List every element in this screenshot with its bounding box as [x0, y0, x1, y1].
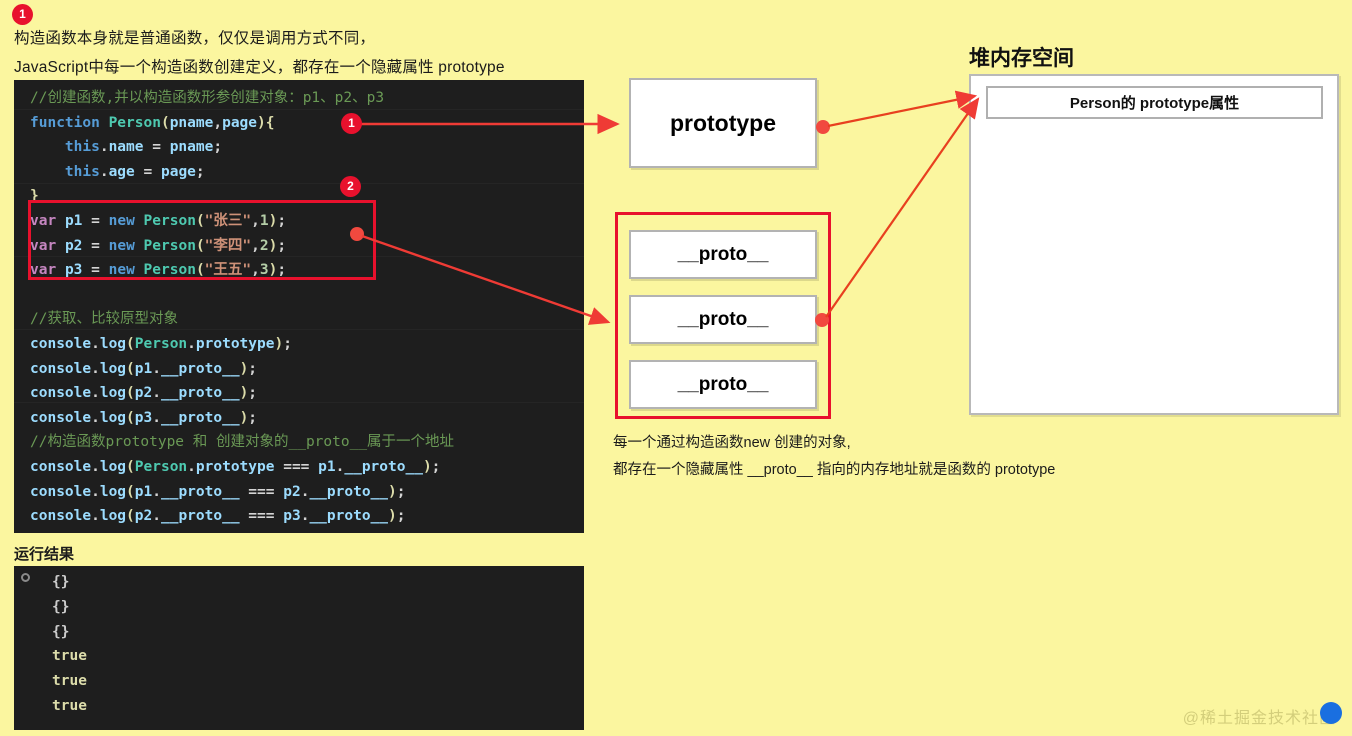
- watermark: @稀土掘金技术社区: [1183, 704, 1336, 728]
- code-line-this-name: this.name = pname;: [14, 135, 584, 160]
- prototype-box: prototype: [629, 78, 817, 168]
- code-line-blank: [14, 283, 584, 308]
- console-line: {}: [14, 570, 584, 595]
- code-line-log-eq-3: console.log(p2.__proto__ === p3.__proto_…: [14, 504, 584, 529]
- code-line-fn-declare: function Person(pname,page){: [14, 111, 584, 136]
- code-line-this-age: this.age = page;: [14, 160, 584, 185]
- run-result-label: 运行结果: [14, 543, 74, 564]
- code-line-comment-create: //创建函数,并以构造函数形参创建对象：p1、p2、p3: [14, 86, 584, 111]
- code-editor-panel: //创建函数,并以构造函数形参创建对象：p1、p2、p3 function Pe…: [14, 80, 584, 533]
- intro-text-line-2: JavaScript中每一个构造函数创建定义，都存在一个隐藏属性 prototy…: [14, 55, 505, 77]
- proto-box-3: __proto__: [629, 360, 817, 409]
- connector-protogroup-to-heap: [826, 99, 978, 317]
- code-line-log-p3: console.log(p3.__proto__);: [14, 406, 584, 431]
- proto-box-2: __proto__: [629, 295, 817, 344]
- console-line: {}: [14, 595, 584, 620]
- console-line: true: [14, 694, 584, 719]
- code-line-log-p1: console.log(p1.__proto__);: [14, 357, 584, 382]
- diagram-canvas: 1 构造函数本身就是普通函数，仅仅是调用方式不同， JavaScript中每一个…: [0, 0, 1352, 736]
- code-highlight-rectangle: [28, 200, 376, 280]
- annotation-badge-1: 1: [341, 113, 362, 134]
- code-line-log-eq-1: console.log(Person.prototype === p1.__pr…: [14, 455, 584, 480]
- step-badge-1: 1: [12, 4, 33, 25]
- console-output-panel: {} {} {} true true true: [14, 566, 584, 730]
- proto-box-1: __proto__: [629, 230, 817, 279]
- console-bullet-icon: [21, 573, 30, 582]
- connector-prototype-to-heap: [828, 96, 975, 126]
- connector-dot-prototype: [816, 120, 830, 134]
- console-line: {}: [14, 620, 584, 645]
- watermark-dot-icon: [1320, 702, 1342, 724]
- console-line: true: [14, 669, 584, 694]
- code-line-comment-address: //构造函数prototype 和 创建对象的__proto__属于一个地址: [14, 430, 584, 455]
- heap-memory-title: 堆内存空间: [969, 42, 1074, 72]
- intro-text-line-1: 构造函数本身就是普通函数，仅仅是调用方式不同，: [14, 26, 375, 48]
- code-line-log-person-proto: console.log(Person.prototype);: [14, 332, 584, 357]
- console-line: true: [14, 644, 584, 669]
- annotation-badge-2: 2: [340, 176, 361, 197]
- heap-memory-area: [969, 74, 1339, 415]
- heap-item-person-prototype: Person的 prototype属性: [986, 86, 1323, 119]
- caption-line-1: 每一个通过构造函数new 创建的对象,: [613, 431, 851, 452]
- code-line-log-eq-2: console.log(p1.__proto__ === p2.__proto_…: [14, 480, 584, 505]
- caption-line-2: 都存在一个隐藏属性 __proto__ 指向的内存地址就是函数的 prototy…: [613, 458, 1055, 479]
